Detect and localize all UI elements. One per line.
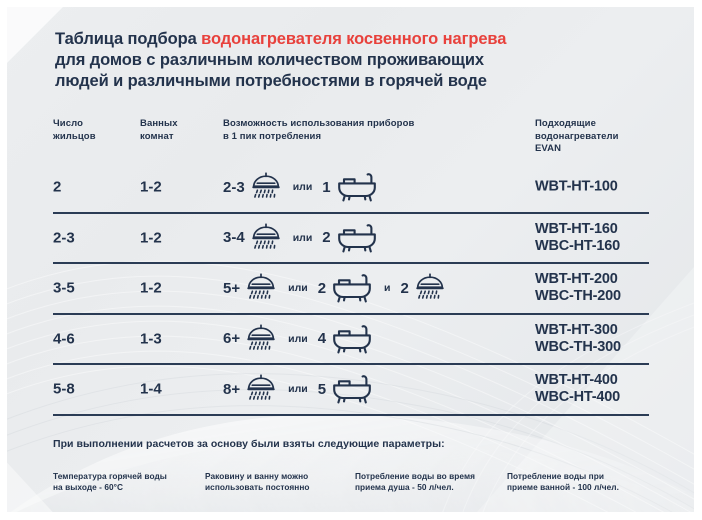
column-header-models-line1: Подходящие (535, 118, 619, 131)
usage-quantity: 4 (318, 330, 326, 347)
model-name: WBT-HT-400 (535, 372, 620, 389)
title-line-1: Таблица подбора водонагревателя косвенно… (55, 29, 665, 50)
model-name: WBT-HT-200 (535, 271, 621, 288)
bathtub-icon (330, 322, 374, 356)
table-row: 3-51-25+или2и2WBT-HT-200WBC-TH-200 (53, 264, 649, 315)
cell-usage: 5+или2и2 (223, 264, 447, 313)
column-header-bathrooms-line1: Ванных (140, 118, 178, 131)
column-header-bathrooms: Ванных комнат (140, 118, 178, 143)
column-header-usage: Возможность использования приборов в 1 п… (223, 118, 414, 143)
column-header-models-line3: EVAN (535, 143, 619, 156)
table-row: 5-81-48+или5WBT-HT-400WBC-HT-400 (53, 365, 649, 416)
shower-icon (244, 271, 278, 305)
table-row: 21-22-3или1WBT-HT-100 (53, 163, 649, 214)
column-header-people-line1: Число (53, 118, 96, 131)
cell-people-count: 2-3 (53, 229, 75, 246)
cell-usage: 6+или4 (223, 315, 374, 364)
column-header-usage-line1: Возможность использования приборов (223, 118, 414, 131)
footer-parameter-line: приема душа - 50 л/чел. (355, 482, 515, 493)
table-row: 4-61-36+или4WBT-HT-300WBC-TH-300 (53, 315, 649, 366)
bathtub-icon (335, 170, 379, 204)
cell-model-list: WBT-HT-160WBC-HT-160 (535, 221, 620, 255)
usage-conjunction: или (293, 181, 313, 193)
cell-bathroom-count: 1-2 (140, 229, 162, 246)
usage-conjunction: или (288, 333, 308, 345)
footer-parameter-line: Потребление воды во время (355, 471, 515, 482)
column-header-usage-line2: в 1 пик потребления (223, 131, 414, 144)
title-line-3: людей и различными потребностями в горяч… (55, 71, 665, 92)
usage-quantity: 3-4 (223, 229, 245, 246)
cell-usage: 3-4или2 (223, 214, 379, 263)
shower-icon (244, 322, 278, 356)
usage-conjunction: или (288, 282, 308, 294)
column-header-models-line2: водонагреватели (535, 131, 619, 144)
footer-title: При выполнении расчетов за основу были в… (53, 438, 445, 450)
title-part-plain: Таблица подбора (55, 30, 201, 48)
cell-usage: 2-3или1 (223, 163, 379, 212)
title-line-2: для домов с различным количеством прожив… (55, 50, 665, 71)
title-part-accent: водонагревателя косвенного нагрева (201, 30, 506, 48)
cell-model-list: WBT-HT-300WBC-TH-300 (535, 322, 621, 356)
footer-parameter: Температура горячей водына выходе - 60°C (53, 471, 213, 493)
footer-parameter: Потребление воды во времяприема душа - 5… (355, 471, 515, 493)
usage-quantity: 2 (322, 229, 330, 246)
table-header-row: Число жильцов Ванных комнат Возможность … (0, 118, 702, 163)
model-name: WBT-HT-160 (535, 221, 620, 238)
model-name: WBT-HT-300 (535, 322, 621, 339)
model-name: WBC-TH-200 (535, 288, 621, 305)
infographic-poster: Таблица подбора водонагревателя косвенно… (0, 0, 702, 520)
cell-model-list: WBT-HT-100 (535, 179, 618, 196)
bathtub-icon (330, 271, 374, 305)
cell-model-list: WBT-HT-400WBC-HT-400 (535, 372, 620, 406)
table-row: 2-31-23-4или2WBT-HT-160WBC-HT-160 (53, 214, 649, 265)
cell-people-count: 3-5 (53, 280, 75, 297)
selection-table: Число жильцов Ванных комнат Возможность … (0, 118, 702, 416)
column-header-bathrooms-line2: комнат (140, 131, 178, 144)
table-body: 21-22-3или1WBT-HT-1002-31-23-4или2WBT-HT… (0, 163, 702, 416)
usage-conjunction: или (288, 383, 308, 395)
column-header-models: Подходящие водонагреватели EVAN (535, 118, 619, 156)
cell-people-count: 2 (53, 179, 61, 196)
shower-icon (249, 221, 283, 255)
footer-parameter-line: приеме ванной - 100 л/чел. (507, 482, 682, 493)
bathtub-icon (330, 372, 374, 406)
usage-quantity: 2 (401, 280, 409, 297)
footer-parameter: Раковину и ванну можноиспользовать посто… (205, 471, 355, 493)
cell-usage: 8+или5 (223, 365, 374, 414)
shower-icon (249, 170, 283, 204)
usage-quantity: 6+ (223, 330, 240, 347)
usage-quantity: 2 (318, 280, 326, 297)
shower-icon (244, 372, 278, 406)
footer-parameter-line: Потребление воды при (507, 471, 682, 482)
footer-parameter-line: использовать постоянно (205, 482, 355, 493)
cell-model-list: WBT-HT-200WBC-TH-200 (535, 271, 621, 305)
cell-people-count: 5-8 (53, 381, 75, 398)
cell-bathroom-count: 1-3 (140, 330, 162, 347)
footer-parameter: Потребление воды приприеме ванной - 100 … (507, 471, 682, 493)
bathtub-icon (335, 221, 379, 255)
usage-quantity: 5 (318, 381, 326, 398)
footer-parameter-line: Температура горячей воды (53, 471, 213, 482)
cell-bathroom-count: 1-2 (140, 179, 162, 196)
model-name: WBT-HT-100 (535, 179, 618, 196)
cell-people-count: 4-6 (53, 330, 75, 347)
page-title: Таблица подбора водонагревателя косвенно… (55, 29, 665, 92)
cell-bathroom-count: 1-4 (140, 381, 162, 398)
shower-icon (413, 271, 447, 305)
column-header-people: Число жильцов (53, 118, 96, 143)
usage-quantity: 2-3 (223, 179, 245, 196)
footer-parameter-line: Раковину и ванну можно (205, 471, 355, 482)
model-name: WBC-TH-300 (535, 339, 621, 356)
usage-conjunction: и (384, 282, 390, 294)
model-name: WBC-HT-400 (535, 389, 620, 406)
usage-quantity: 8+ (223, 381, 240, 398)
usage-conjunction: или (293, 232, 313, 244)
usage-quantity: 5+ (223, 280, 240, 297)
footer-parameter-line: на выходе - 60°C (53, 482, 213, 493)
model-name: WBC-HT-160 (535, 238, 620, 255)
column-header-people-line2: жильцов (53, 131, 96, 144)
cell-bathroom-count: 1-2 (140, 280, 162, 297)
usage-quantity: 1 (322, 179, 330, 196)
